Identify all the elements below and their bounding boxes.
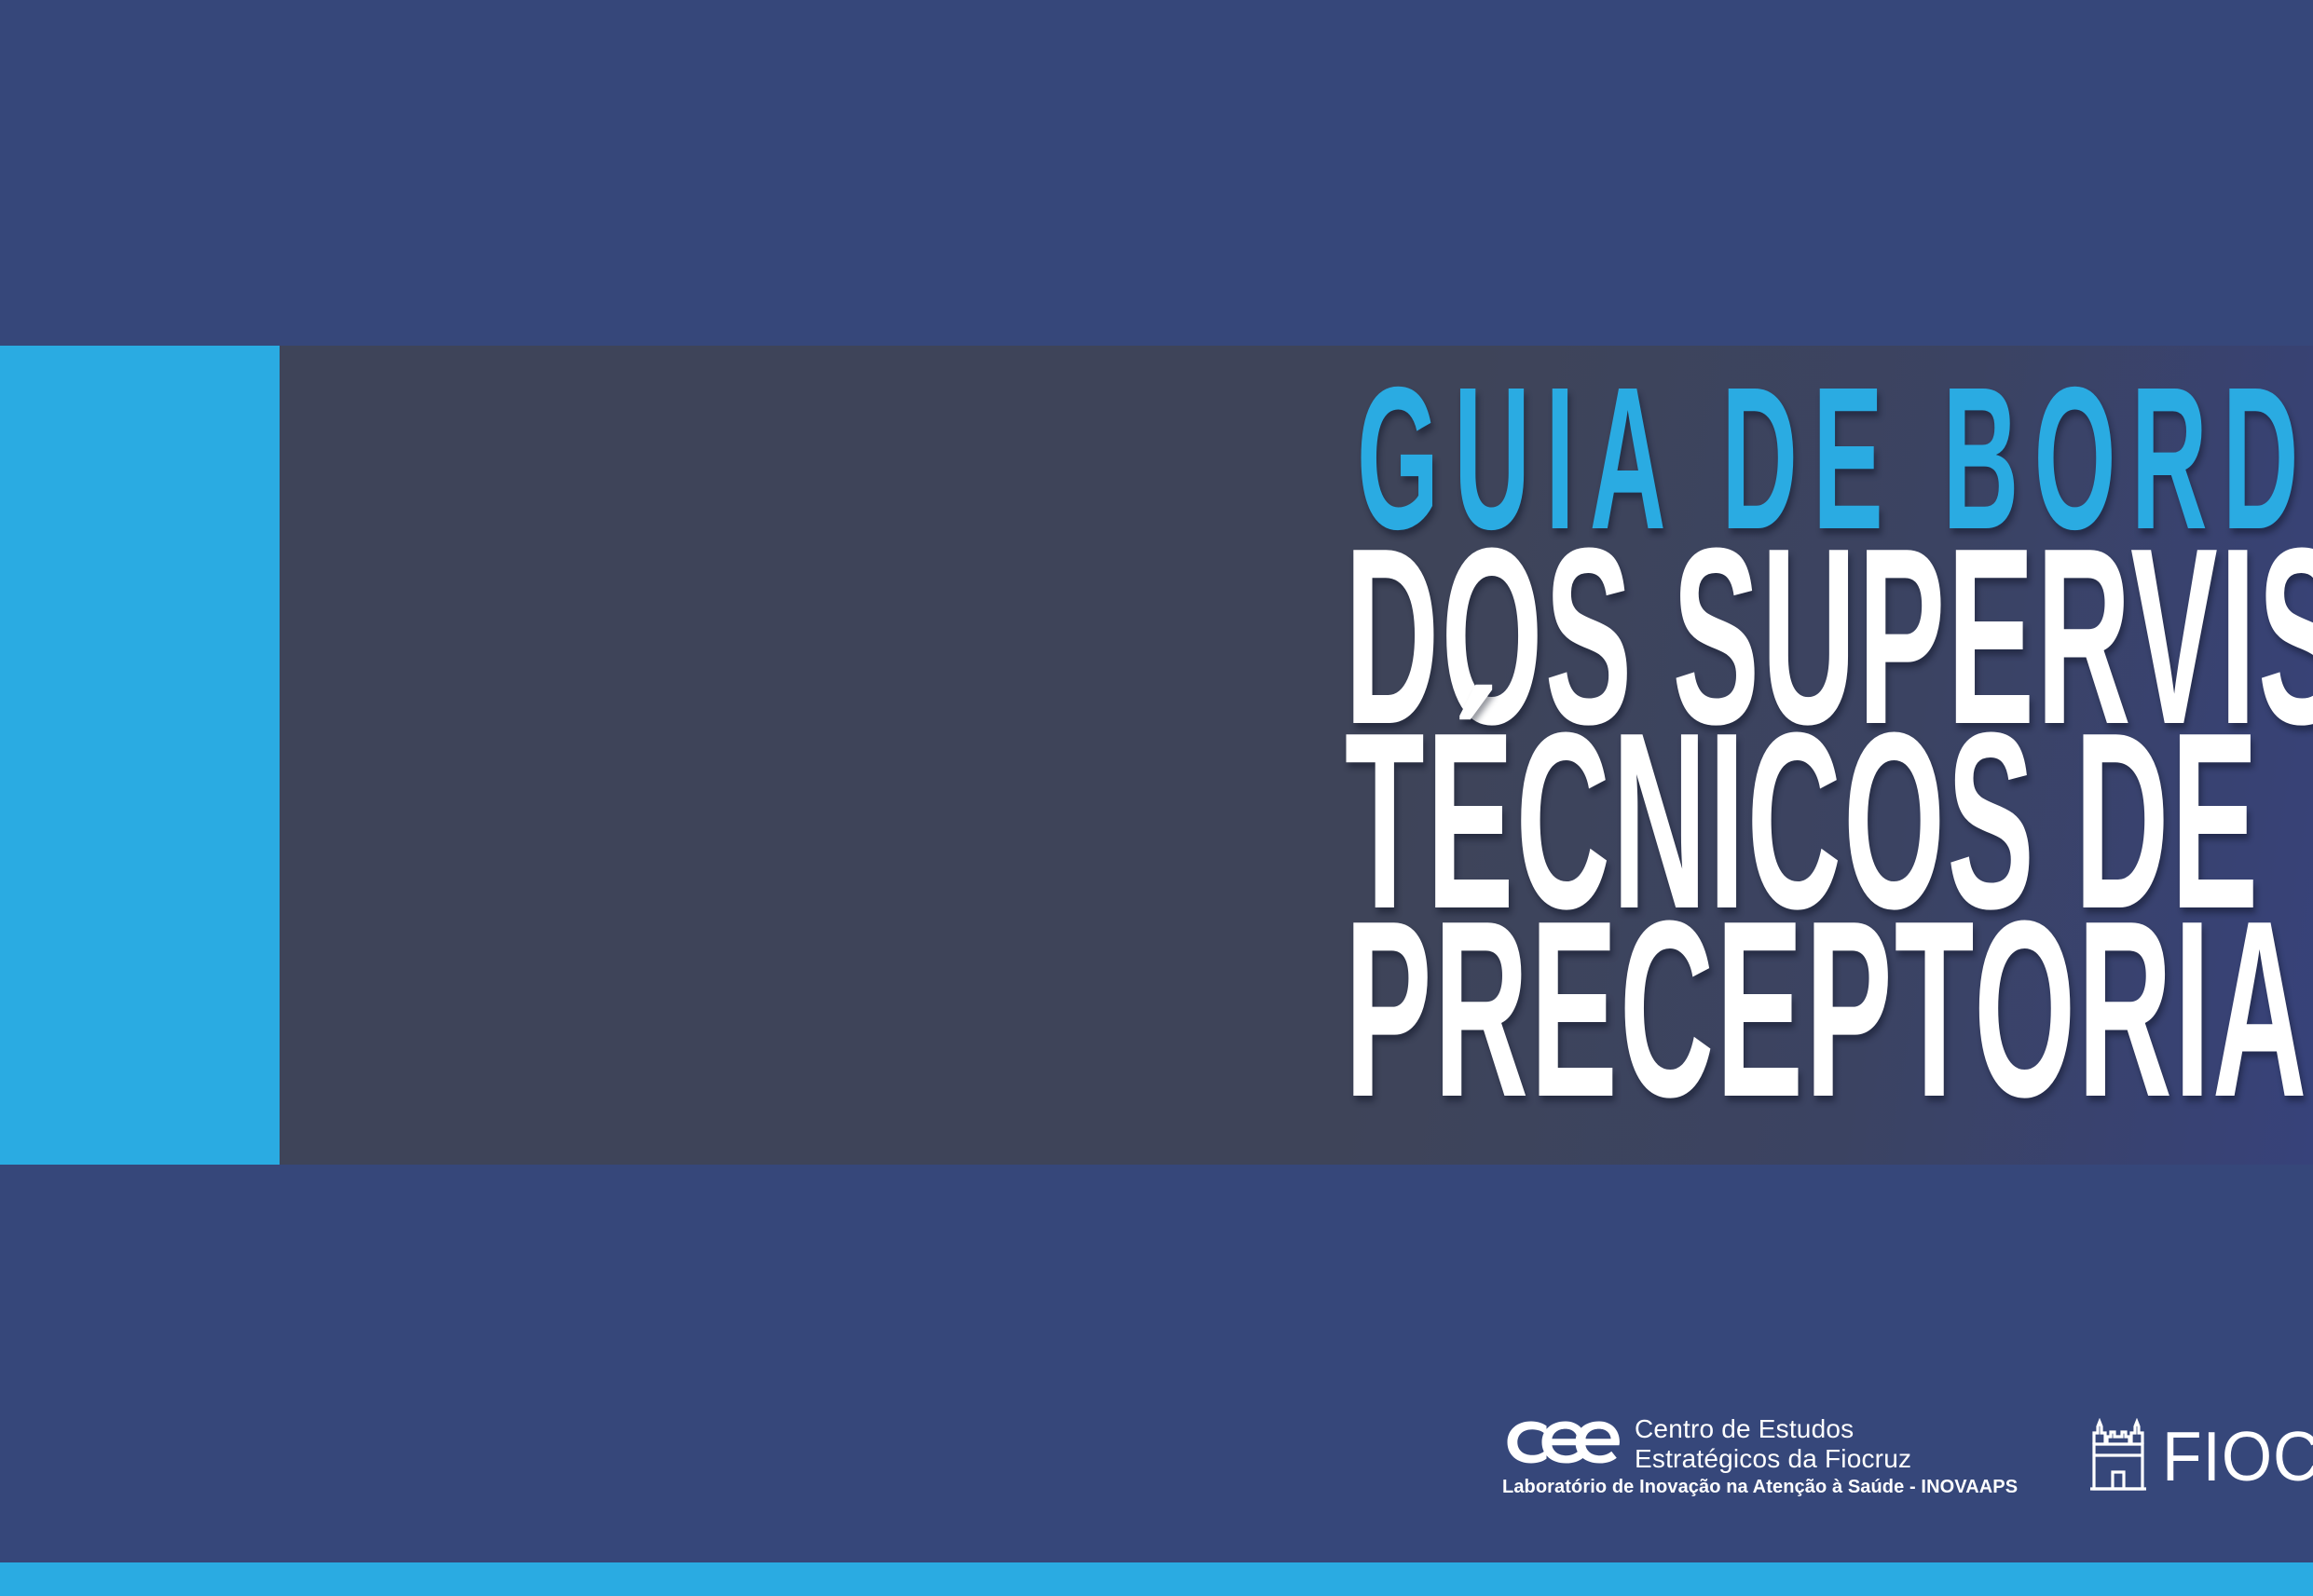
cee-subtitle: Laboratório de Inovação na Atenção à Saú… (1502, 1477, 2018, 1498)
cee-name-line-2: Estratégicos da Fiocruz (1635, 1444, 1911, 1474)
castelo-mourisco-icon (2087, 1418, 2150, 1495)
cee-primary-lockup: Centro de Estudos Estratégicos da Fiocru… (1502, 1414, 1911, 1474)
fiocruz-logo: FIOCRUZ (2087, 1418, 2313, 1495)
cee-logo: Centro de Estudos Estratégicos da Fiocru… (1502, 1414, 2018, 1498)
cee-name-line-1: Centro de Estudos (1635, 1414, 1911, 1444)
book-cover: GUIA DE BORDO DOS SUPERVISORES TÉCNICOS … (0, 0, 2313, 1596)
title-line-4: PRECEPTORIA (1345, 915, 2170, 1105)
cee-wordmark-icon (1502, 1415, 1622, 1474)
cee-name: Centro de Estudos Estratégicos da Fiocru… (1635, 1414, 1911, 1474)
logo-row: Centro de Estudos Estratégicos da Fiocru… (1502, 1405, 2313, 1507)
cover-title: GUIA DE BORDO DOS SUPERVISORES TÉCNICOS … (582, 373, 2167, 1105)
footer-cyan-strip (0, 1562, 2313, 1596)
accent-cyan-block (0, 346, 280, 1165)
fiocruz-wordmark: FIOCRUZ (2162, 1422, 2313, 1492)
